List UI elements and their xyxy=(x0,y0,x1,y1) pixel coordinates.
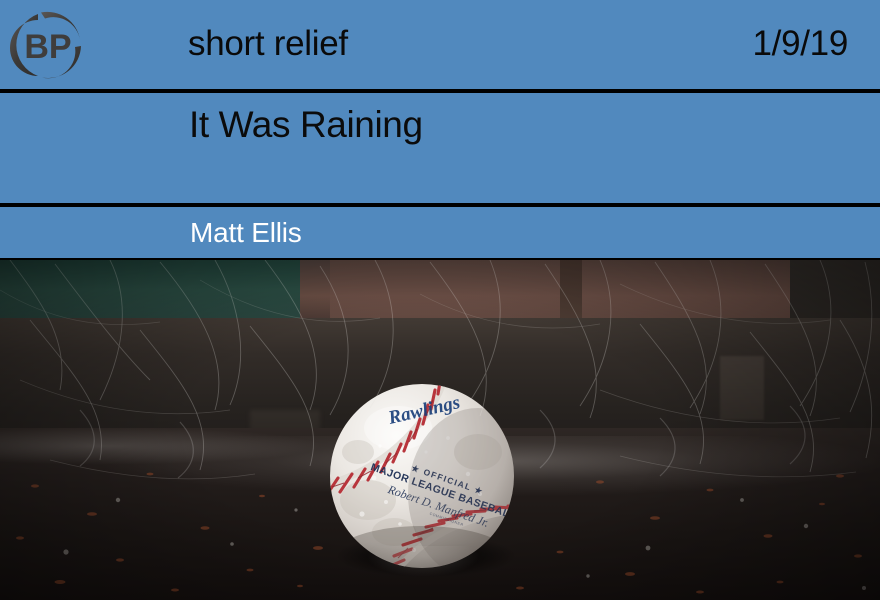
header-band xyxy=(0,0,880,89)
article-card: BP short relief 1/9/19 It Was Raining Ma… xyxy=(0,0,880,600)
article-hero-photo: Rawlings ★ OFFICIAL ★ MAJOR LEAGUE BASEB… xyxy=(0,260,880,600)
baseball-prospectus-logo[interactable]: BP xyxy=(8,6,88,84)
issue-date: 1/9/19 xyxy=(752,22,848,66)
logo-letters: BP xyxy=(24,28,71,66)
author-band xyxy=(0,207,880,258)
page-title: It Was Raining xyxy=(189,101,423,149)
author-byline: Matt Ellis xyxy=(190,216,302,250)
photo-vignette xyxy=(0,260,880,600)
brand-title: short relief xyxy=(188,22,348,66)
title-band xyxy=(0,93,880,203)
